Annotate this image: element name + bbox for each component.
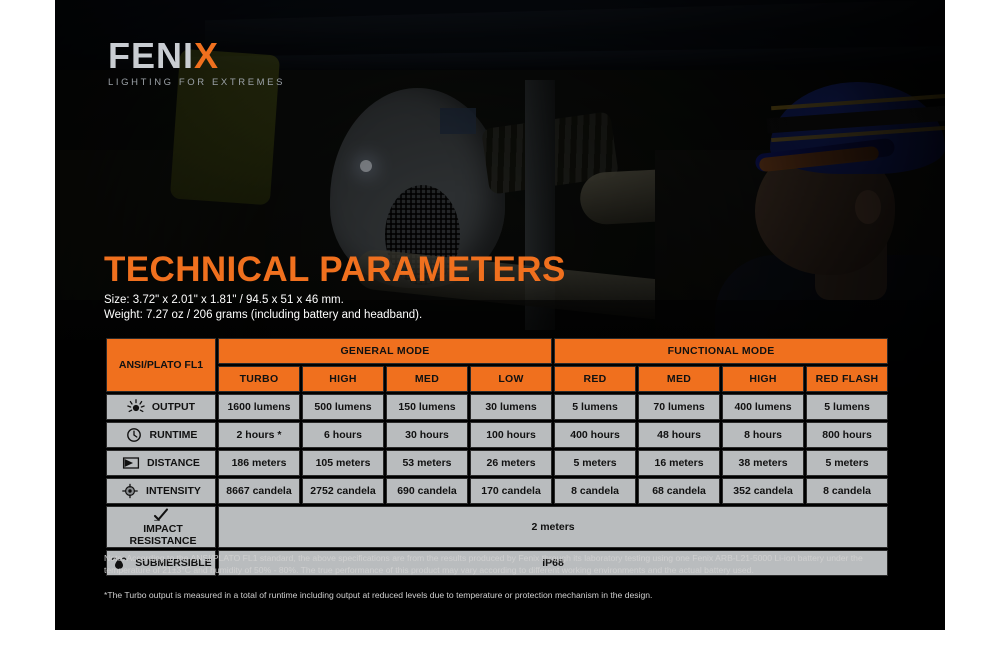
group-header-general: GENERAL MODE	[218, 338, 552, 364]
mode-header-turbo: TURBO	[218, 366, 300, 392]
mode-header-red: RED	[554, 366, 636, 392]
crosshair-intensity-icon	[121, 483, 139, 499]
group-header-functional: FUNCTIONAL MODE	[554, 338, 888, 364]
row-label-intensity: INTENSITY	[106, 478, 216, 504]
logo-word-x: X	[194, 35, 219, 76]
logo-wordmark: FENIX	[108, 38, 285, 74]
hammer-impact-icon	[152, 507, 170, 523]
cell-distance-high: 105 meters	[302, 450, 384, 476]
row-label-distance: DISTANCE	[106, 450, 216, 476]
note-turbo-output: *The Turbo output is measured in a total…	[104, 589, 894, 601]
cell-impact-resistance-value: 2 meters	[218, 506, 888, 548]
row-label-output: OUTPUT	[106, 394, 216, 420]
cell-intensity-turbo: 8667 candela	[218, 478, 300, 504]
table-row: DISTANCE 186 meters 105 meters 53 meters…	[106, 450, 888, 476]
cell-output-red-med: 70 lumens	[638, 394, 720, 420]
cell-output-red: 5 lumens	[554, 394, 636, 420]
cell-runtime-red-flash: 800 hours	[806, 422, 888, 448]
row-label-text: DISTANCE	[147, 457, 200, 469]
cell-runtime-red: 400 hours	[554, 422, 636, 448]
row-label-text: RUNTIME	[150, 429, 198, 441]
sunburst-icon	[127, 399, 145, 415]
logo-tagline: LIGHTING FOR EXTREMES	[108, 77, 285, 88]
table-row: OUTPUT 1600 lumens 500 lumens 150 lumens…	[106, 394, 888, 420]
cell-runtime-low: 100 hours	[470, 422, 552, 448]
page-title: TECHNICAL PARAMETERS	[104, 252, 566, 287]
row-label-text: IMPACT RESISTANCE	[111, 523, 215, 547]
cell-output-turbo: 1600 lumens	[218, 394, 300, 420]
spec-table-wrapper: ANSI/PLATO FL1 GENERAL MODE FUNCTIONAL M…	[104, 336, 886, 578]
cell-output-high: 500 lumens	[302, 394, 384, 420]
table-row: IMPACT RESISTANCE 2 meters	[106, 506, 888, 548]
fenix-logo: FENIX LIGHTING FOR EXTREMES	[108, 38, 285, 88]
cell-runtime-med: 30 hours	[386, 422, 468, 448]
row-label-impact-resistance: IMPACT RESISTANCE	[106, 506, 216, 548]
cell-intensity-red-high: 352 candela	[722, 478, 804, 504]
footnotes: Note: According to the ANSI/PLATO FL1 st…	[104, 552, 894, 602]
product-spec-sheet: FENIX LIGHTING FOR EXTREMES TECHNICAL PA…	[0, 0, 1000, 667]
spec-table: ANSI/PLATO FL1 GENERAL MODE FUNCTIONAL M…	[104, 336, 890, 578]
note-ansi-standard: Note: According to the ANSI/PLATO FL1 st…	[104, 552, 894, 576]
cell-runtime-red-med: 48 hours	[638, 422, 720, 448]
mode-header-red-flash: RED FLASH	[806, 366, 888, 392]
row-label-text: OUTPUT	[152, 401, 195, 413]
cell-runtime-red-high: 8 hours	[722, 422, 804, 448]
cell-distance-med: 53 meters	[386, 450, 468, 476]
size-line: Size: 3.72" x 2.01" x 1.81" / 94.5 x 51 …	[104, 293, 566, 308]
clock-icon	[125, 427, 143, 443]
cell-output-low: 30 lumens	[470, 394, 552, 420]
cell-intensity-red: 8 candela	[554, 478, 636, 504]
cell-intensity-red-flash: 8 candela	[806, 478, 888, 504]
mode-header-red-med: MED	[638, 366, 720, 392]
beam-distance-icon	[122, 455, 140, 471]
standard-label-cell: ANSI/PLATO FL1	[106, 338, 216, 392]
row-label-text: INTENSITY	[146, 485, 201, 497]
table-row: INTENSITY 8667 candela 2752 candela 690 …	[106, 478, 888, 504]
logo-word-main: FENI	[108, 35, 194, 76]
cell-intensity-high: 2752 candela	[302, 478, 384, 504]
cell-distance-red: 5 meters	[554, 450, 636, 476]
table-row: RUNTIME 2 hours * 6 hours 30 hours 100 h…	[106, 422, 888, 448]
cell-output-med: 150 lumens	[386, 394, 468, 420]
cell-distance-red-high: 38 meters	[722, 450, 804, 476]
cell-intensity-red-med: 68 candela	[638, 478, 720, 504]
cell-runtime-turbo: 2 hours *	[218, 422, 300, 448]
cell-runtime-high: 6 hours	[302, 422, 384, 448]
table-header-mode-row: TURBO HIGH MED LOW RED MED HIGH RED FLAS…	[106, 366, 888, 392]
cell-intensity-low: 170 candela	[470, 478, 552, 504]
cell-distance-red-med: 16 meters	[638, 450, 720, 476]
mode-header-med: MED	[386, 366, 468, 392]
weight-line: Weight: 7.27 oz / 206 grams (including b…	[104, 308, 566, 323]
cell-output-red-flash: 5 lumens	[806, 394, 888, 420]
mode-header-red-high: HIGH	[722, 366, 804, 392]
cell-distance-red-flash: 5 meters	[806, 450, 888, 476]
table-header-group-row: ANSI/PLATO FL1 GENERAL MODE FUNCTIONAL M…	[106, 338, 888, 364]
cell-intensity-med: 690 candela	[386, 478, 468, 504]
cell-distance-low: 26 meters	[470, 450, 552, 476]
mode-header-low: LOW	[470, 366, 552, 392]
mode-header-high: HIGH	[302, 366, 384, 392]
headline-block: TECHNICAL PARAMETERS Size: 3.72" x 2.01"…	[104, 252, 566, 323]
row-label-runtime: RUNTIME	[106, 422, 216, 448]
cell-output-red-high: 400 lumens	[722, 394, 804, 420]
cell-distance-turbo: 186 meters	[218, 450, 300, 476]
